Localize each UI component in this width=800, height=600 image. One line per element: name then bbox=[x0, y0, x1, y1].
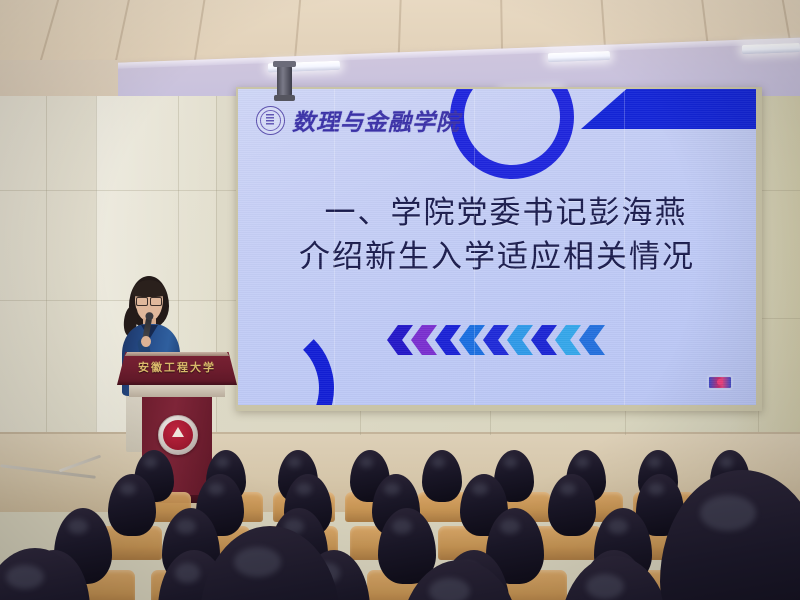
slide-chevron bbox=[531, 325, 557, 355]
podium-top-edge bbox=[119, 352, 235, 356]
wall-seam bbox=[758, 190, 800, 191]
audience bbox=[0, 430, 800, 600]
audience-head-foreground bbox=[660, 470, 800, 600]
slide-u-arc-decoration bbox=[450, 89, 574, 179]
slide-header-logo: 数理与金融学院 bbox=[256, 103, 460, 137]
screen-panel-seam bbox=[334, 89, 335, 405]
slide-title-line-1: 一、学院党委书记彭海燕 bbox=[238, 191, 756, 235]
slide-chevron bbox=[459, 325, 485, 355]
slide-title: 一、学院党委书记彭海燕 介绍新生入学适应相关情况 bbox=[238, 191, 756, 279]
podium-neck bbox=[129, 385, 225, 397]
audience-head bbox=[422, 450, 462, 502]
audience-head-foreground bbox=[560, 556, 670, 600]
university-seal-icon bbox=[256, 106, 285, 135]
wall-seam bbox=[46, 96, 47, 436]
slide-top-right-band-decoration bbox=[581, 89, 756, 129]
wall-seam bbox=[758, 318, 800, 319]
slide-chevron bbox=[555, 325, 581, 355]
slide-chevron bbox=[387, 325, 413, 355]
slide-chevron bbox=[507, 325, 533, 355]
slide-title-line-2: 介绍新生入学适应相关情况 bbox=[238, 235, 756, 279]
podium-front-label: 安徽工程大学 bbox=[117, 359, 237, 375]
slide-chevron bbox=[411, 325, 437, 355]
ceiling-projector-speaker-icon bbox=[277, 66, 292, 96]
slide-corner-badge-icon bbox=[708, 376, 732, 389]
speaker-hand bbox=[141, 336, 151, 347]
projection-screen: 数理与金融学院 一、学院党委书记彭海燕 介绍新生入学适应相关情况 bbox=[238, 89, 756, 405]
auditorium-scene: 数理与金融学院 一、学院党委书记彭海燕 介绍新生入学适应相关情况 安徽工程大学 bbox=[0, 0, 800, 600]
screen-panel-seam bbox=[624, 89, 625, 405]
slide-chevron bbox=[483, 325, 509, 355]
wall-seam bbox=[0, 190, 236, 191]
slide-chevron-row bbox=[238, 325, 756, 355]
speaker-glasses-icon bbox=[136, 297, 162, 304]
slide-chevron bbox=[579, 325, 605, 355]
screen-panel-seam bbox=[474, 89, 475, 405]
slide-logo-label: 数理与金融学院 bbox=[292, 103, 460, 137]
slide-chevron bbox=[435, 325, 461, 355]
